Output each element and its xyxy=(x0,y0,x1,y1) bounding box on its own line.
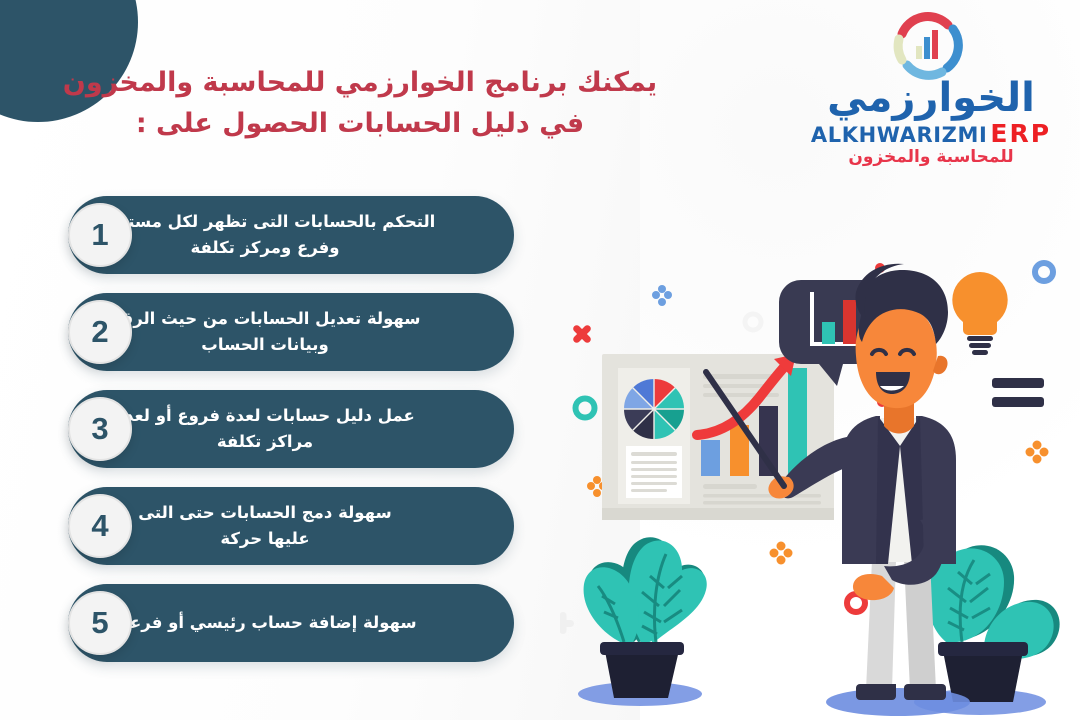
feature-list: التحكم بالحسابات التى تظهر لكل مستخدم وف… xyxy=(68,196,558,681)
list-item[interactable]: سهولة إضافة حساب رئيسي أو فرعي 5 xyxy=(68,584,558,662)
decoration-cross-x-icon xyxy=(566,318,597,349)
pie-chart-icon xyxy=(624,379,684,439)
feature-pill[interactable]: سهولة دمج الحسابات حتى التى عليها حركة xyxy=(68,487,514,565)
decoration-plus-light-icon xyxy=(560,612,574,634)
feature-number-badge: 4 xyxy=(68,494,132,558)
feature-text-line-2: وفرع ومركز تكلفة xyxy=(190,238,339,257)
list-item[interactable]: سهولة تعديل الحسابات من حيث الرقم وبيانا… xyxy=(68,293,558,371)
feature-text: عمل دليل حسابات لعدة فروع أو لعدة مراكز … xyxy=(115,403,415,454)
list-item[interactable]: التحكم بالحسابات التى تظهر لكل مستخدم وف… xyxy=(68,196,558,274)
decoration-ring-teal-icon xyxy=(576,399,595,418)
decoration-dot-cluster-orange-2-icon xyxy=(770,542,793,565)
feature-text: التحكم بالحسابات التى تظهر لكل مستخدم وف… xyxy=(95,209,436,260)
text-lines-icon xyxy=(626,446,682,498)
feature-text-line-1: سهولة تعديل الحسابات من حيث الرقم xyxy=(109,309,420,328)
page-title: يمكنك برنامج الخوارزمي للمحاسبة والمخزون… xyxy=(60,62,660,144)
business-presentation-illustration xyxy=(560,250,1080,720)
feature-number-badge: 2 xyxy=(68,300,132,364)
brand-logo[interactable]: الخوارزمي ALKHWARIZMI ERP للمحاسبة والمخ… xyxy=(796,6,1066,167)
feature-text-line-2: عليها حركة xyxy=(220,529,309,548)
list-item[interactable]: عمل دليل حسابات لعدة فروع أو لعدة مراكز … xyxy=(68,390,558,468)
feature-text-line-2: مراكز تكلفة xyxy=(217,432,313,451)
logo-mark-icon xyxy=(885,6,977,84)
feature-number-badge: 3 xyxy=(68,397,132,461)
feature-pill[interactable]: التحكم بالحسابات التى تظهر لكل مستخدم وف… xyxy=(68,196,514,274)
feature-text: سهولة إضافة حساب رئيسي أو فرعي xyxy=(113,610,416,636)
feature-text-line-1: عمل دليل حسابات لعدة فروع أو لعدة xyxy=(115,406,415,425)
list-item[interactable]: سهولة دمج الحسابات حتى التى عليها حركة 4 xyxy=(68,487,558,565)
decoration-dot-cluster-blue-icon xyxy=(652,285,672,306)
page-title-line-1: يمكنك برنامج الخوارزمي للمحاسبة والمخزون xyxy=(60,62,660,103)
feature-pill[interactable]: عمل دليل حسابات لعدة فروع أو لعدة مراكز … xyxy=(68,390,514,468)
feature-number-badge: 5 xyxy=(68,591,132,655)
feature-pill[interactable]: سهولة إضافة حساب رئيسي أو فرعي xyxy=(68,584,514,662)
feature-pill[interactable]: سهولة تعديل الحسابات من حيث الرقم وبيانا… xyxy=(68,293,514,371)
logo-product-name: ERP xyxy=(990,119,1051,148)
lightbulb-icon xyxy=(952,272,1007,355)
feature-text: سهولة تعديل الحسابات من حيث الرقم وبيانا… xyxy=(109,306,420,357)
equals-icon xyxy=(992,378,1044,407)
feature-text-line-1: التحكم بالحسابات التى تظهر لكل مستخدم xyxy=(95,212,436,231)
page-title-line-2: في دليل الحسابات الحصول على : xyxy=(60,103,660,144)
logo-tagline: للمحاسبة والمخزون xyxy=(796,147,1066,167)
feature-text: سهولة دمج الحسابات حتى التى عليها حركة xyxy=(138,500,392,551)
decoration-ring-white-icon xyxy=(745,314,761,330)
decoration-ring-blue-icon xyxy=(1035,263,1053,281)
logo-latin-block: ALKHWARIZMI ERP xyxy=(796,119,1066,148)
feature-text-line-1: سهولة دمج الحسابات حتى التى xyxy=(138,503,392,522)
feature-number-badge: 1 xyxy=(68,203,132,267)
potted-plant-icon-left xyxy=(578,537,707,706)
logo-latin-name: ALKHWARIZMI xyxy=(811,123,987,147)
feature-text-line-1: سهولة إضافة حساب رئيسي أو فرعي xyxy=(113,613,416,632)
decoration-dot-cluster-orange-3-icon xyxy=(1026,441,1049,464)
whiteboard xyxy=(602,354,834,520)
feature-text-line-2: وبيانات الحساب xyxy=(201,335,328,354)
